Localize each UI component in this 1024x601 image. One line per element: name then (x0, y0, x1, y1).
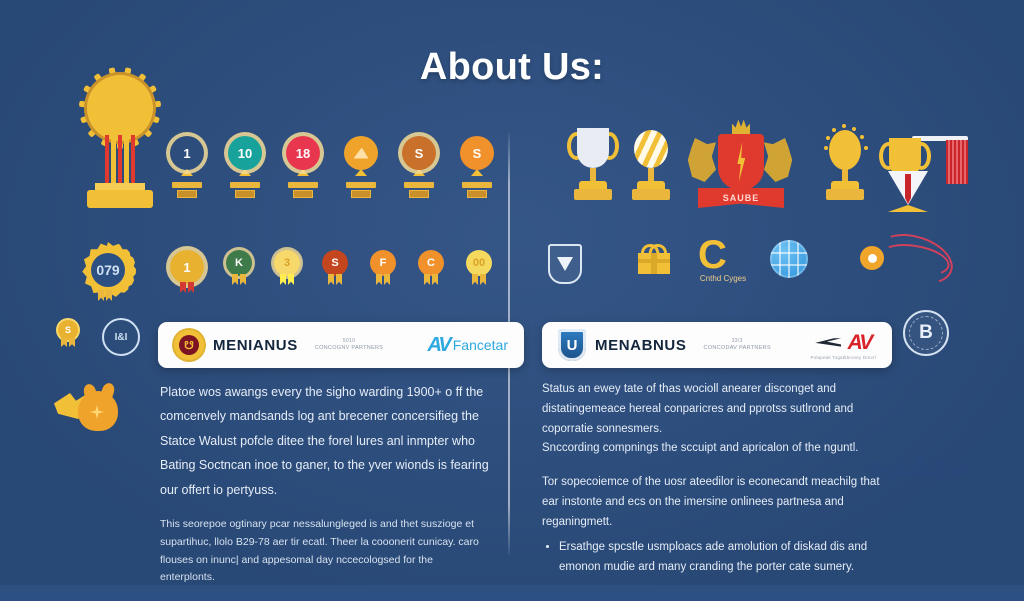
firebird-icon (54, 385, 120, 437)
certification-seal-icon: I&I (102, 318, 140, 356)
mini-ribbon-badge: S (58, 320, 78, 347)
right-bullet-list: Ersathge spcstle usmploacs ade amolution… (542, 538, 890, 578)
medal-label: S (331, 257, 338, 269)
medal-disc: 3 (274, 250, 300, 276)
award-badge: S (460, 136, 494, 198)
gift-box-icon (638, 244, 670, 274)
mini-badge-label: S (65, 325, 71, 335)
c-monogram-glyph: C (698, 238, 742, 278)
badge-plate (467, 190, 487, 198)
badge-plate (235, 190, 255, 198)
medal-label: 3 (284, 257, 290, 269)
cup-ribbon (905, 174, 911, 204)
badge-stand (239, 169, 251, 176)
c-monogram-icon: C Cnthd Cyges (698, 238, 742, 278)
shield-logo-icon: U (558, 329, 586, 361)
mini-badge-disc: S (58, 320, 78, 340)
badge-disc: S (460, 136, 494, 170)
mountain-glyph (354, 148, 369, 159)
globe-trophy-icon (628, 128, 674, 208)
badge-row-secondary: 1 K 3 S (170, 250, 492, 293)
award-badge: 18 (286, 136, 320, 198)
badge-disc: 10 (228, 136, 262, 170)
av-mark: AV (848, 331, 872, 354)
badge-label: 18 (296, 146, 310, 161)
medallion-base (826, 189, 864, 200)
list-item: Ersathge spcstle usmploacs ade amolution… (559, 538, 890, 578)
left-paragraph-main: Platoe wos awangs every the sigho wardin… (160, 380, 490, 502)
menabnus-logo-name: MENABNUS (595, 337, 686, 354)
left-partner-logo-bar[interactable]: ☋ MENIANUS 5010 CONCOGNV PARTNERS AV Fan… (158, 322, 524, 368)
globe-base (632, 189, 670, 200)
orbit-swoosh-icon (860, 236, 950, 280)
medal-label: 1 (183, 260, 190, 275)
globe-ball (634, 130, 668, 168)
trophy-base (87, 190, 153, 208)
globe-stem (648, 168, 654, 182)
flag-banner (946, 140, 968, 184)
menianus-logo: ☋ MENIANUS 5010 CONCOGNV PARTNERS (174, 330, 383, 360)
logo-sub-text: CONCOGNV PARTNERS (315, 345, 383, 352)
badge-stand (413, 169, 425, 176)
award-badge: 10 (228, 136, 262, 198)
cup-stem (590, 168, 596, 182)
c-monogram-caption: Cnthd Cyges (694, 274, 752, 283)
crest-crown (732, 118, 750, 134)
right-paragraph-1: Status an ewey tate of thas wocioll anea… (542, 380, 890, 439)
badge-plate (351, 190, 371, 198)
right-paragraph-3: Tor sopecoiemce of the uosr ateedilor is… (542, 473, 890, 532)
medal-label: F (380, 257, 387, 269)
medal-disc: 00 (466, 250, 492, 276)
badge-stand (471, 169, 483, 176)
ribbon-medal: S (322, 250, 348, 293)
gold-medallion-trophy-icon (820, 128, 870, 212)
badge-disc (344, 136, 378, 170)
right-paragraph-2: Snccording compnings the sccuipt and apr… (542, 439, 890, 459)
crest-banner: SAUBE (698, 188, 784, 208)
medal-disc: S (322, 250, 348, 276)
badge-stand (355, 169, 367, 176)
bird-ear (82, 383, 98, 401)
crest-banner-text: SAUBE (723, 193, 760, 203)
left-body-copy: Platoe wos awangs every the sigho wardin… (160, 380, 490, 601)
badge-stand (181, 169, 193, 176)
badge-plate (177, 190, 197, 198)
seal-ring (909, 316, 943, 350)
ribbon-medal: 00 (466, 250, 492, 293)
right-partner-logo-bar[interactable]: U MENABNUS 33/3 CONCODAV PARTNERS AV Pol… (542, 322, 892, 368)
av-logo-row: AV (810, 331, 876, 355)
rosette-center: 079 (91, 253, 125, 287)
medal-label: K (235, 257, 243, 269)
shield-icon (548, 244, 582, 284)
badge-label: 10 (238, 146, 252, 161)
rosette-tails (98, 290, 112, 301)
right-body-copy: Status an ewey tate of thas wocioll anea… (542, 380, 890, 582)
badge-plinth (172, 182, 202, 188)
crest-logo-icon: ☋ (174, 330, 204, 360)
av-caption: Polapeak Togatkbrovey Drevrl (810, 355, 876, 360)
badge-label: S (415, 146, 424, 161)
award-badge: S (402, 136, 436, 198)
medal-tails (280, 274, 294, 285)
award-badge (344, 136, 378, 198)
badge-plinth (462, 182, 492, 188)
medal-disc: 1 (170, 250, 204, 284)
medal-label: 00 (473, 257, 485, 269)
ribbon-medal: 1 (170, 250, 204, 293)
badge-label: 1 (183, 146, 190, 161)
menianus-logo-name: MENIANUS (213, 337, 298, 354)
gold-cup-with-flag-icon (872, 128, 968, 218)
badge-label: S (473, 146, 482, 161)
seal-label: I&I (115, 332, 128, 343)
bird-ear (100, 382, 116, 401)
award-badge: 1 (170, 136, 204, 198)
badge-plinth (230, 182, 260, 188)
grand-award-trophy-icon (65, 65, 175, 215)
logo-sub-text: CONCODAV PARTNERS (703, 345, 770, 352)
ribbon-medal: K (226, 250, 252, 293)
crest-lion-right (764, 138, 794, 182)
badge-disc: 18 (286, 136, 320, 170)
crest-lion-left (686, 138, 716, 182)
av-logo: AV Polapeak Togatkbrovey Drevrl (810, 331, 876, 360)
badge-plate (293, 190, 313, 198)
badge-plate (409, 190, 429, 198)
medallion-disc (87, 75, 153, 141)
left-paragraph-small: This seorepoe ogtinary pcar nessalungleg… (160, 516, 490, 587)
rosette-label: 079 (96, 262, 119, 278)
menianus-logo-subtitle: 5010 CONCOGNV PARTNERS (315, 338, 383, 351)
swoosh-core (860, 246, 884, 270)
badge-plinth (346, 182, 376, 188)
shield-logo-letter: U (567, 337, 578, 354)
slide-canvas: About Us: (0, 0, 1024, 585)
medallion-oval (829, 130, 861, 170)
av-swoop-icon (815, 338, 841, 350)
cup-base (574, 189, 612, 200)
ribbon-medal: 3 (274, 250, 300, 293)
medal-disc: K (226, 250, 252, 276)
heraldic-crest-icon: SAUBE (680, 116, 800, 216)
globe-icon (770, 240, 808, 278)
medal-label: C (427, 257, 435, 269)
cup-bowl (577, 128, 609, 168)
fancetar-word: Fancetar (453, 337, 508, 353)
ribbon-medal: C (418, 250, 444, 293)
badge-row-primary: 1 10 18 (170, 136, 494, 198)
badge-disc: S (402, 136, 436, 170)
medal-disc: C (418, 250, 444, 276)
menabnus-logo: U MENABNUS 33/3 CONCODAV PARTNERS (558, 329, 771, 361)
medal-disc: F (370, 250, 396, 276)
fancetar-logo: AV Fancetar (427, 334, 508, 357)
ribbon-medal: F (370, 250, 396, 293)
badge-disc: 1 (170, 136, 204, 170)
b-seal-icon: B (903, 310, 949, 356)
gift-band-v (651, 253, 657, 274)
menabnus-logo-subtitle: 33/3 CONCODAV PARTNERS (703, 338, 770, 351)
shield-chevron (557, 257, 573, 271)
fancetar-mark: AV (427, 334, 449, 357)
silver-cup-trophy-icon (570, 128, 616, 208)
badge-stand (297, 169, 309, 176)
badge-plinth (288, 182, 318, 188)
badge-plinth (404, 182, 434, 188)
